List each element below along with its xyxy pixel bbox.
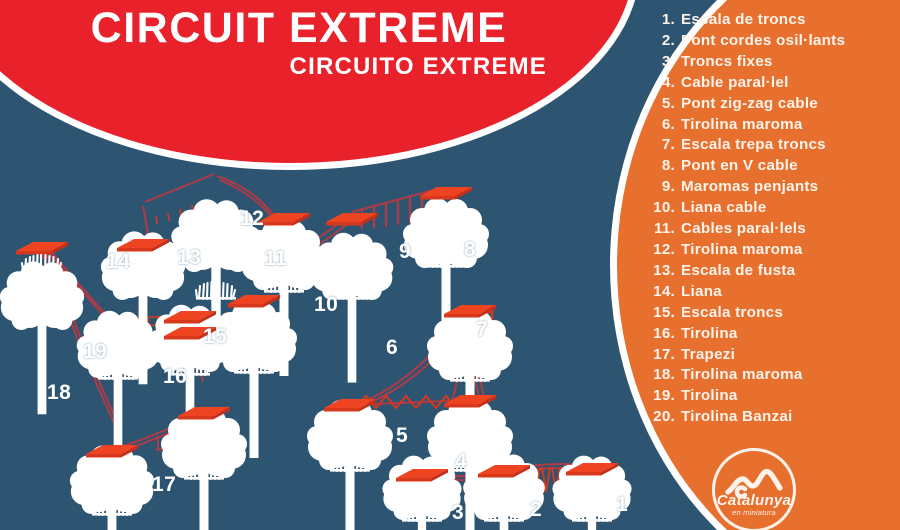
map-marker-7: 7 [476,318,488,342]
map-marker-18: 18 [47,381,71,405]
legend-item-11: 11.Cables paral·lels [648,219,900,240]
legend-item-number: 1. [648,10,675,31]
legend-item-15: 15.Escala troncs [648,303,900,324]
page-title: CIRCUIT EXTREME [29,5,569,51]
legend-item-8: 8.Pont en V cable [648,156,900,177]
map-marker-14: 14 [106,250,130,274]
map-marker-2: 2 [530,498,542,522]
legend-item-2: 2.Pont cordes osil·lants [648,31,900,52]
legend-item-label: Escala de fusta [681,261,795,282]
legend-item-label: Tirolina [681,324,738,345]
map-marker-5: 5 [396,424,408,448]
legend-item-label: Tirolina [681,386,738,407]
legend-item-number: 6. [648,115,675,136]
legend-item-14: 14.Liana [648,282,900,303]
map-marker-16: 16 [163,365,187,389]
legend-item-number: 19. [648,386,675,407]
legend-item-label: Escala trepa troncs [681,135,826,156]
legend-item-number: 20. [648,407,675,428]
legend-item-number: 14. [648,282,675,303]
legend-item-label: Tirolina maroma [681,365,803,386]
legend-item-20: 20.Tirolina Banzai [648,407,900,428]
legend-item-5: 5.Pont zig-zag cable [648,94,900,115]
legend-item-16: 16.Tirolina [648,324,900,345]
map-marker-3: 3 [452,501,464,525]
logo-tagline: en miniatura [712,508,796,517]
legend-item-number: 18. [648,365,675,386]
legend-item-number: 8. [648,156,675,177]
legend-item-18: 18.Tirolina maroma [648,365,900,386]
legend-item-17: 17.Trapezi [648,345,900,366]
legend-item-label: Tirolina maroma [681,240,803,261]
map-marker-19: 19 [83,340,107,364]
page-subtitle: CIRCUITO EXTREME [29,53,569,81]
legend-item-label: Tirolina Banzai [681,407,793,428]
legend-item-number: 3. [648,52,675,73]
legend-item-label: Pont zig-zag cable [681,94,818,115]
map-marker-17: 17 [152,473,176,497]
legend-item-number: 10. [648,198,675,219]
legend-item-number: 13. [648,261,675,282]
map-marker-10: 10 [314,293,338,317]
legend-item-number: 9. [648,177,675,198]
map-marker-8: 8 [464,238,476,262]
legend-item-number: 11. [648,219,675,240]
map-marker-11: 11 [264,247,287,271]
legend-item-label: Tirolina maroma [681,115,803,136]
map-marker-13: 13 [177,246,201,270]
circuit-extreme-poster: 12345678910111213141516171819 CIRCUIT EX… [0,0,900,530]
legend-item-label: Cable paral·lel [681,73,789,94]
brand-logo: Catalunya en miniatura [712,448,796,530]
element-13-cable [145,174,214,202]
legend-item-4: 4.Cable paral·lel [648,73,900,94]
legend-item-9: 9.Maromas penjants [648,177,900,198]
map-marker-4: 4 [455,450,467,474]
logo-wordmark: Catalunya [712,492,796,509]
legend-item-number: 5. [648,94,675,115]
legend-item-3: 3.Troncs fixes [648,52,900,73]
legend-item-label: Trapezi [681,345,735,366]
legend-item-7: 7.Escala trepa troncs [648,135,900,156]
map-marker-12: 12 [240,207,264,231]
legend-item-label: Troncs fixes [681,52,773,73]
legend-item-label: Pont en V cable [681,156,798,177]
cm-mountain-icon [712,448,796,530]
legend-item-12: 12.Tirolina maroma [648,240,900,261]
legend-item-label: Cables paral·lels [681,219,806,240]
legend-item-label: Escala de troncs [681,10,806,31]
legend-item-10: 10.Liana cable [648,198,900,219]
legend-item-label: Liana [681,282,722,303]
legend-item-number: 17. [648,345,675,366]
legend-item-1: 1.Escala de troncs [648,10,900,31]
legend-item-number: 4. [648,73,675,94]
legend-item-number: 15. [648,303,675,324]
map-marker-6: 6 [386,336,398,360]
legend-list: 1.Escala de troncs2.Pont cordes osil·lan… [648,10,900,440]
legend-item-number: 2. [648,31,675,52]
legend-item-number: 7. [648,135,675,156]
map-marker-1: 1 [616,493,628,517]
legend-item-19: 19.Tirolina [648,386,900,407]
map-marker-9: 9 [399,240,411,264]
legend-item-number: 12. [648,240,675,261]
legend-item-number: 16. [648,324,675,345]
legend-item-label: Escala troncs [681,303,783,324]
legend-item-6: 6.Tirolina maroma [648,115,900,136]
legend-item-label: Pont cordes osil·lants [681,31,845,52]
legend-item-label: Liana cable [681,198,766,219]
legend-item-13: 13.Escala de fusta [648,261,900,282]
map-marker-15: 15 [203,325,227,349]
legend-item-label: Maromas penjants [681,177,818,198]
